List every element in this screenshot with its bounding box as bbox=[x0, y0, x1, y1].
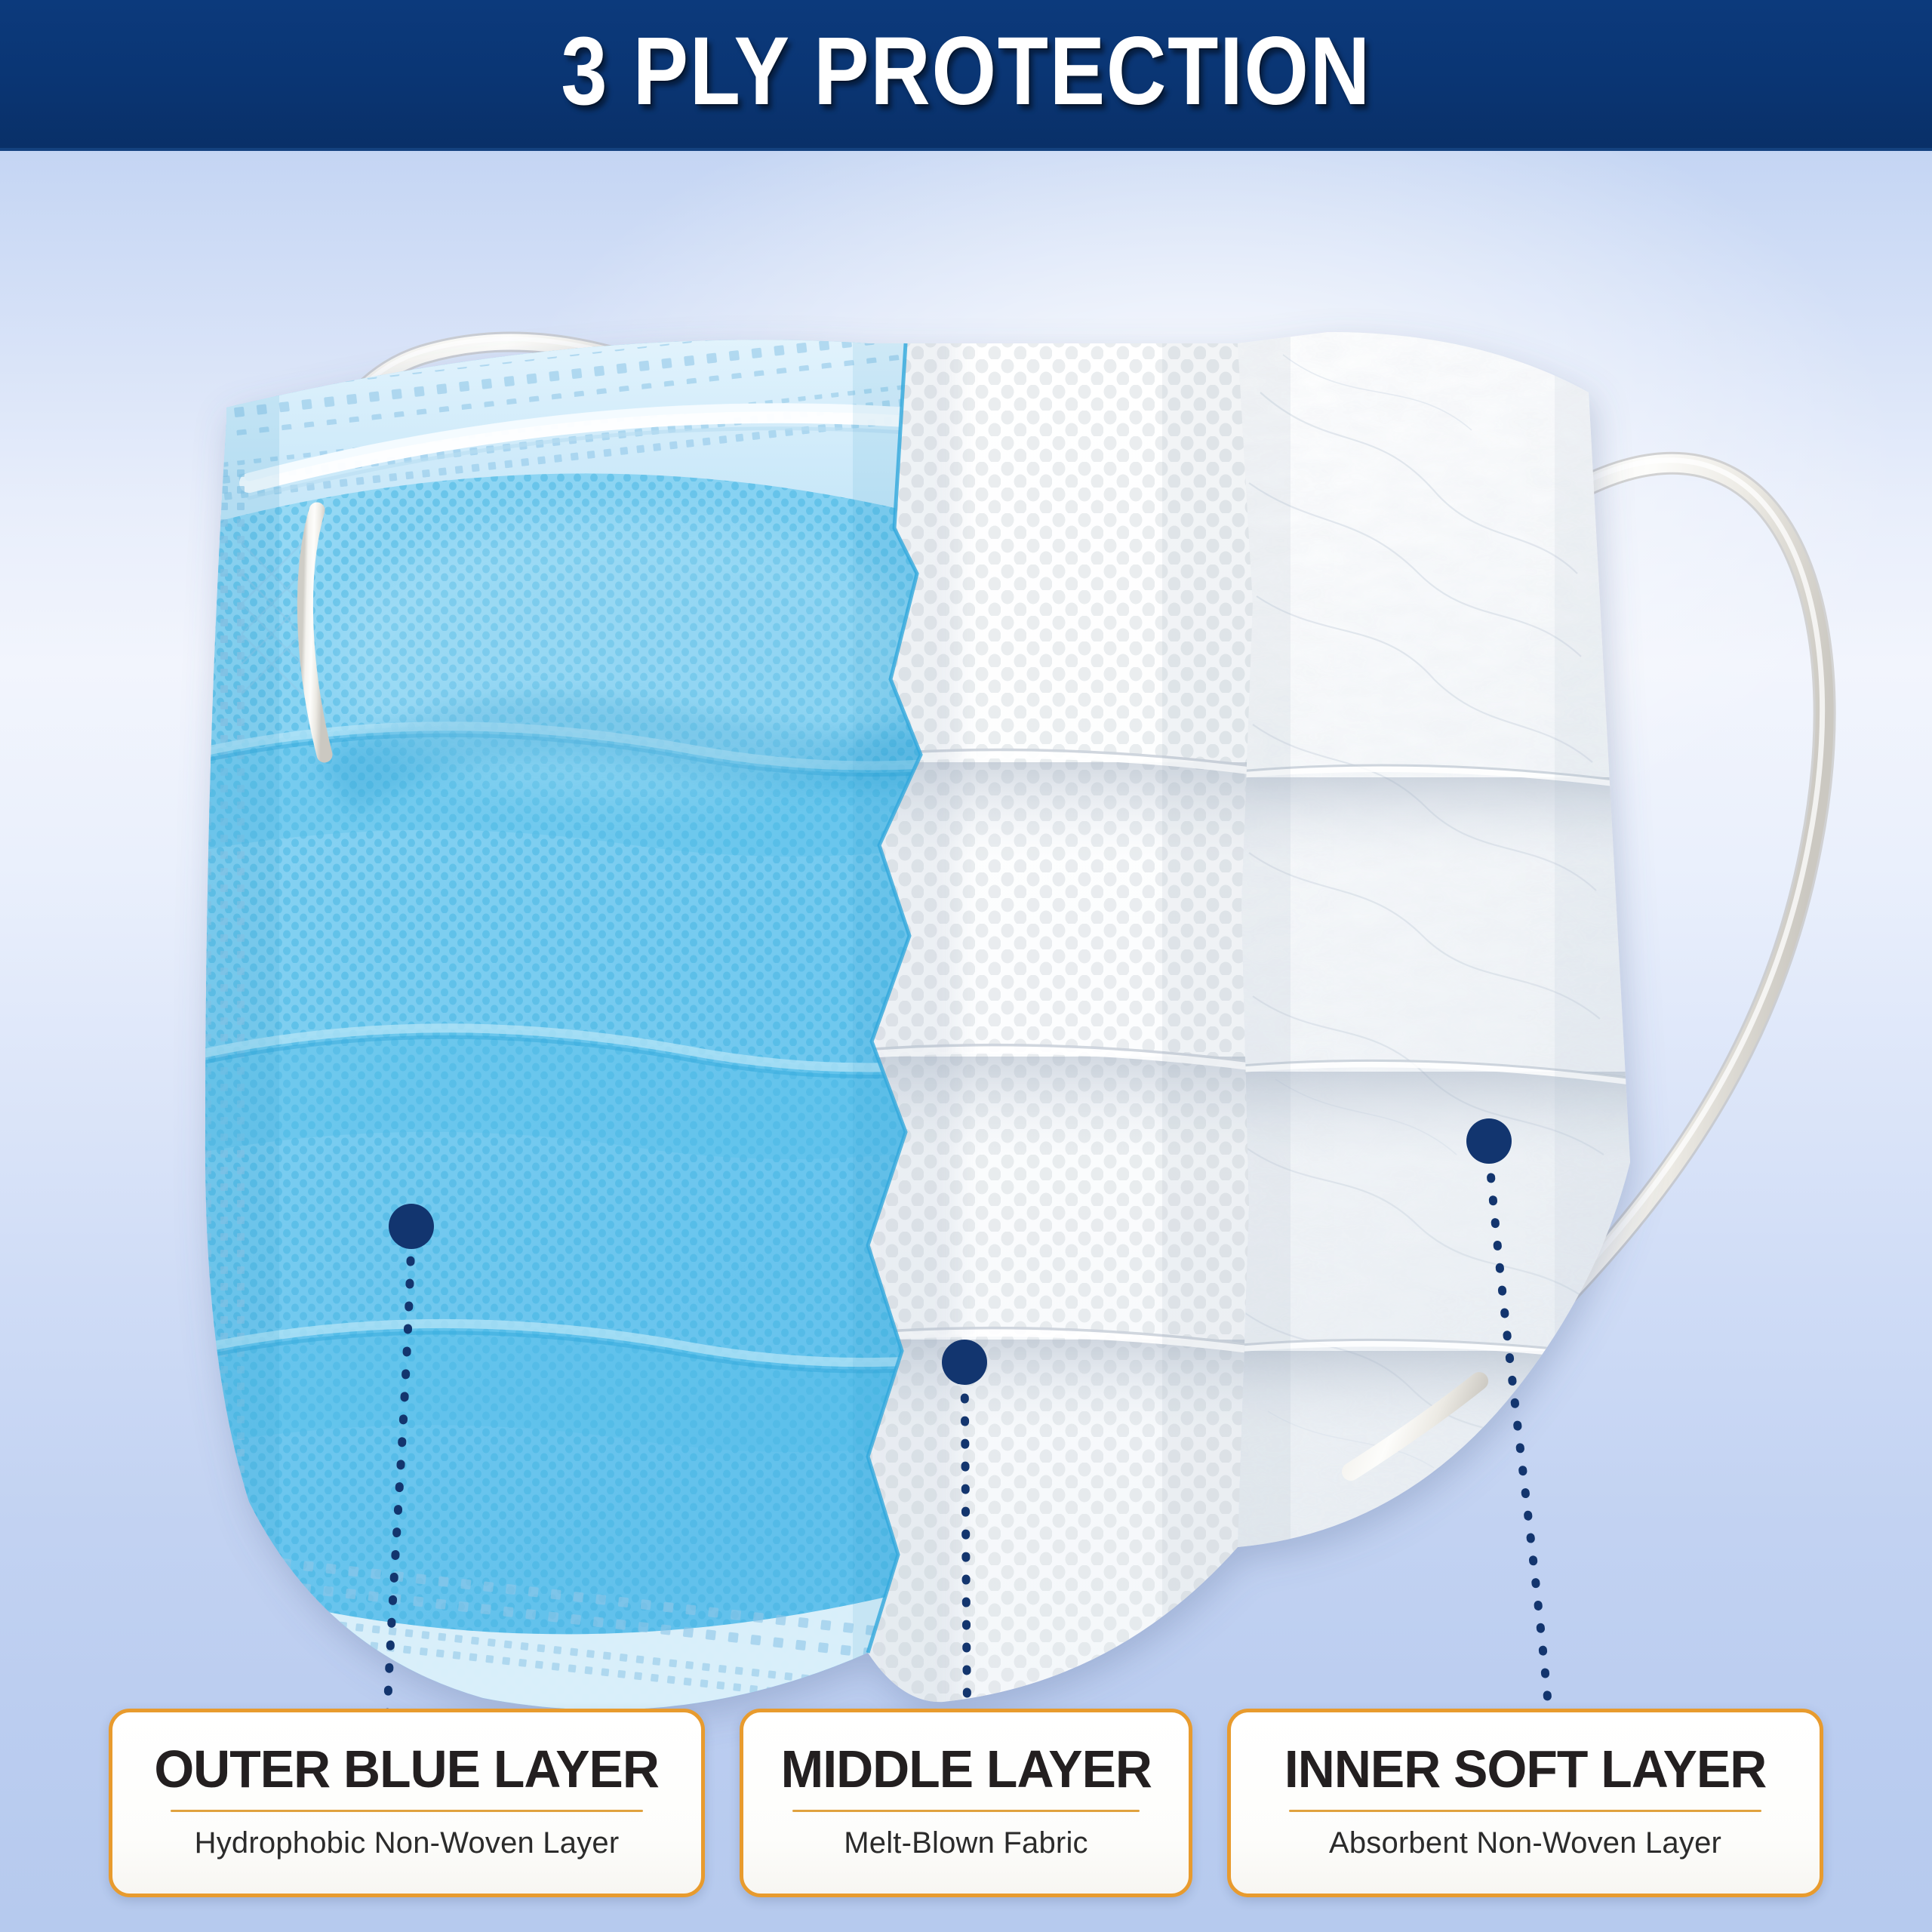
infographic-canvas: 3 PLY PROTECTION OUTER BLUE LAYER Hydrop… bbox=[0, 0, 1932, 1932]
callout-layer bbox=[0, 0, 1932, 1932]
legend-title-outer: OUTER BLUE LAYER bbox=[155, 1743, 660, 1796]
legend-divider bbox=[1289, 1810, 1762, 1812]
callout-leader-inner bbox=[1466, 1118, 1551, 1736]
legend-divider bbox=[792, 1810, 1139, 1812]
callout-dot-middle bbox=[942, 1340, 987, 1385]
legend-subtitle-outer: Hydrophobic Non-Woven Layer bbox=[195, 1826, 620, 1860]
legend-subtitle-middle: Melt-Blown Fabric bbox=[844, 1826, 1088, 1860]
callout-dot-inner bbox=[1466, 1118, 1512, 1164]
header-banner: 3 PLY PROTECTION bbox=[0, 0, 1932, 151]
legend-card-outer-blue-layer[interactable]: OUTER BLUE LAYER Hydrophobic Non-Woven L… bbox=[109, 1709, 705, 1897]
legend-card-middle-layer[interactable]: MIDDLE LAYER Melt-Blown Fabric bbox=[740, 1709, 1192, 1897]
page-title: 3 PLY PROTECTION bbox=[561, 23, 1371, 125]
legend-subtitle-inner: Absorbent Non-Woven Layer bbox=[1329, 1826, 1721, 1860]
callout-leader-middle bbox=[942, 1340, 987, 1736]
legend-card-inner-soft-layer[interactable]: INNER SOFT LAYER Absorbent Non-Woven Lay… bbox=[1227, 1709, 1823, 1897]
layer-legend: OUTER BLUE LAYER Hydrophobic Non-Woven L… bbox=[0, 1709, 1932, 1897]
legend-divider bbox=[171, 1810, 644, 1812]
legend-title-inner: INNER SOFT LAYER bbox=[1284, 1743, 1766, 1796]
callout-leader-outer bbox=[386, 1204, 434, 1736]
legend-title-middle: MIDDLE LAYER bbox=[780, 1743, 1151, 1796]
callout-dot-outer bbox=[389, 1204, 434, 1249]
